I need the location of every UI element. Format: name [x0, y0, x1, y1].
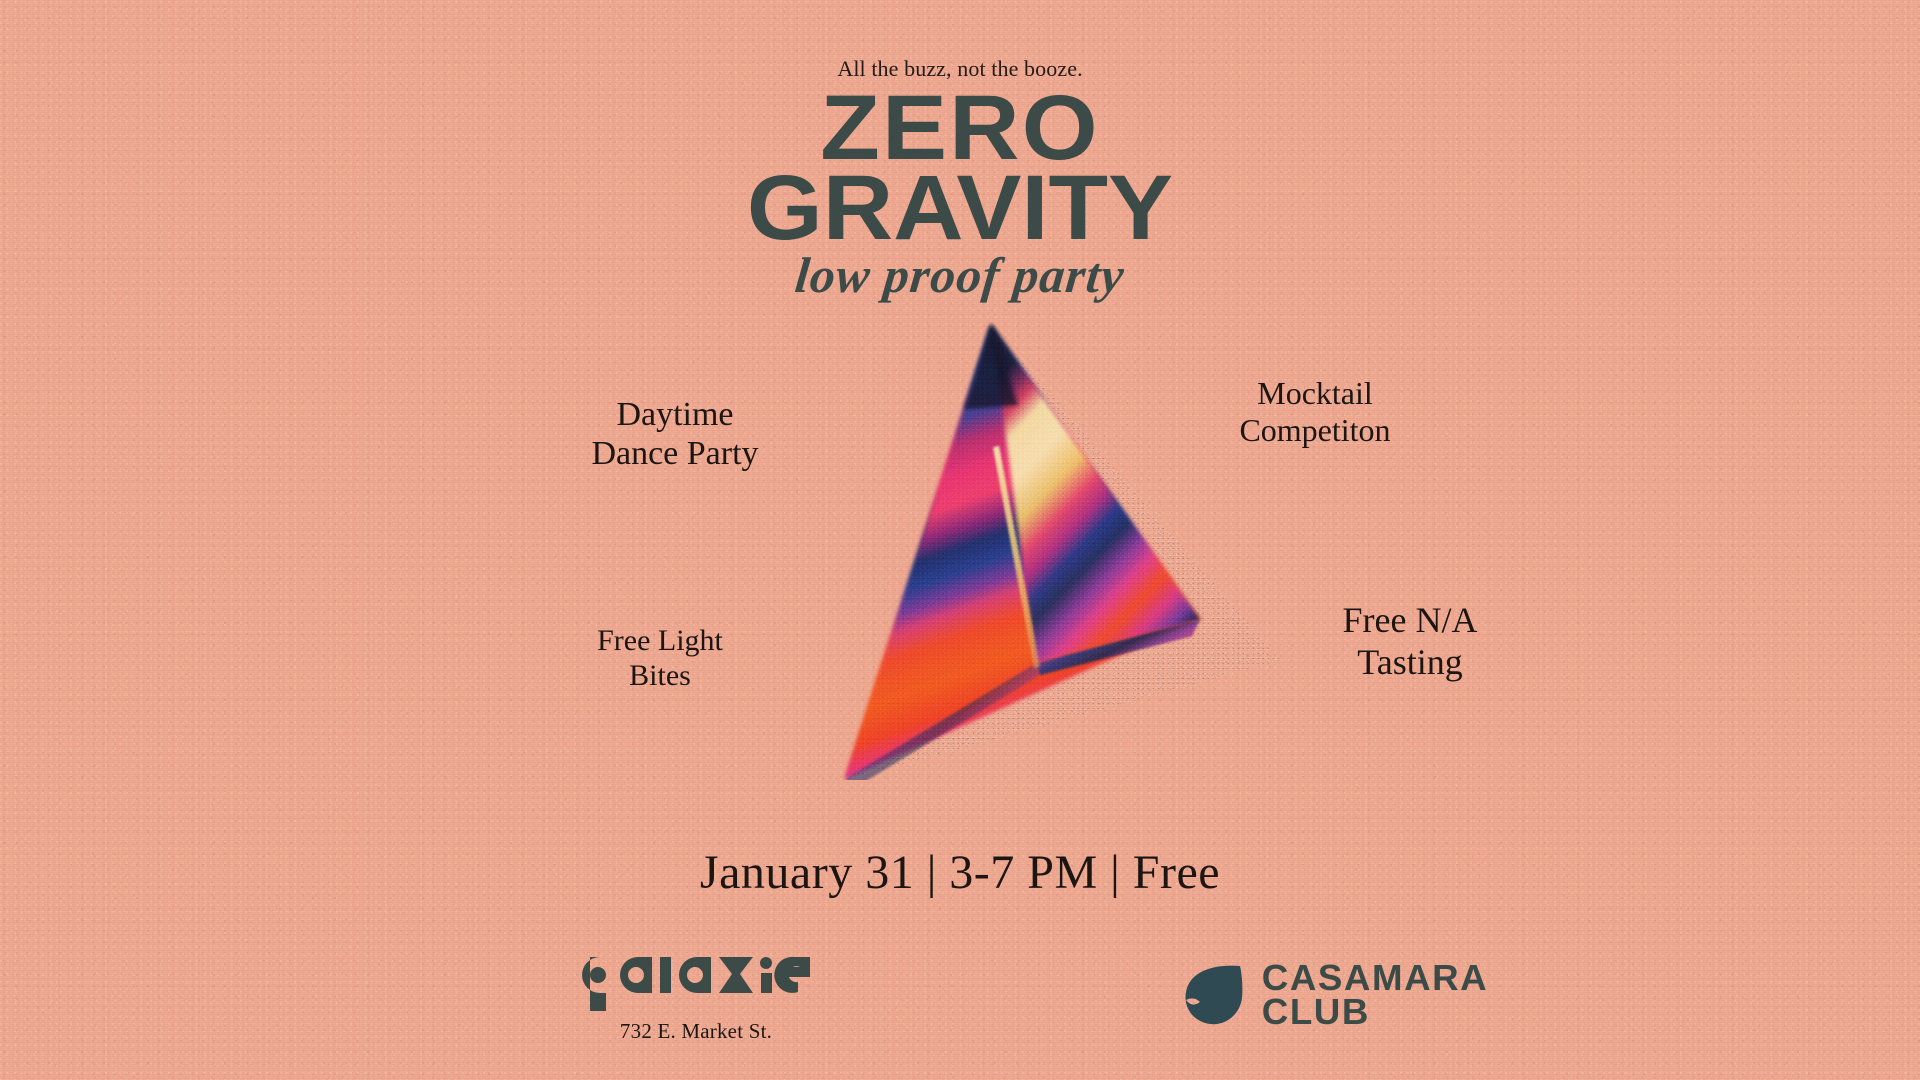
feature-daytime-dance-party: Daytime Dance Party	[520, 395, 830, 474]
venue-block: 732 E. Market St.	[566, 955, 826, 1044]
sponsor-name-line-2: CLUB	[1262, 995, 1488, 1029]
script-subtitle: low proof party	[0, 246, 1920, 304]
sponsor-name-line-1: CASAMARA	[1262, 961, 1488, 995]
feature-free-light-bites: Free Light Bites	[510, 624, 810, 694]
event-details-line: January 31 | 3-7 PM | Free	[0, 845, 1920, 900]
feature-free-na-tasting: Free N/A Tasting	[1245, 600, 1575, 684]
headline-line-2: GRAVITY	[0, 172, 1920, 246]
sponsor-wordmark: CASAMARA CLUB	[1262, 961, 1488, 1029]
galaxie-logo	[580, 955, 812, 1015]
headline-line-1: ZERO	[0, 92, 1920, 166]
poster-canvas: All the buzz, not the booze. ZERO GRAVIT…	[0, 0, 1920, 1080]
feature-mocktail-competiton: Mocktail Competiton	[1150, 375, 1480, 449]
headline-block: ZERO GRAVITY	[0, 92, 1920, 245]
footer: 732 E. Market St. CASAMARA CLUB	[0, 955, 1920, 1075]
venue-address: 732 E. Market St.	[566, 1019, 826, 1044]
casamara-leaf-icon	[1180, 962, 1246, 1028]
sponsor-block: CASAMARA CLUB	[1180, 961, 1486, 1029]
